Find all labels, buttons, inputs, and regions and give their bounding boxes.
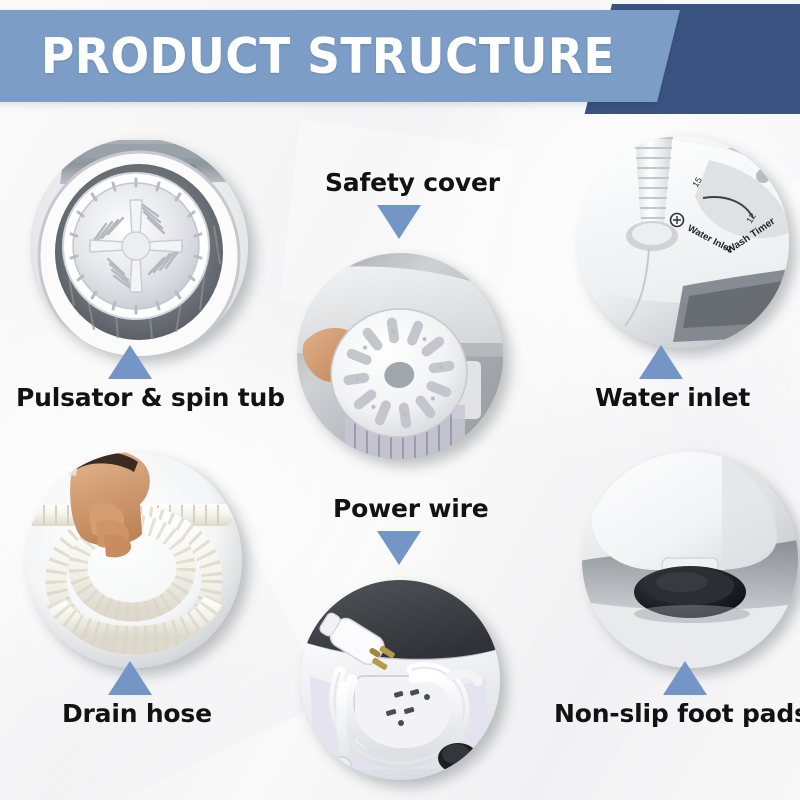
arrow-up-drain-hose [108,661,152,695]
arrow-up-pulsator-spin-tub [108,345,152,379]
caption-safety-cover: Safety cover [325,168,500,197]
arrow-down-safety-cover [377,205,421,239]
caption-water-inlet: Water inlet [595,383,750,412]
photo-safety-cover[interactable] [297,253,503,459]
caption-pulsator-spin-tub: Pulsator & spin tub [16,383,285,412]
photo-power-wire[interactable] [300,580,500,780]
photo-drain-hose[interactable] [26,452,242,668]
photo-pulsator-spin-tub[interactable] [30,138,248,356]
caption-drain-hose: Drain hose [62,699,212,728]
photo-water-inlet[interactable]: 15 12 0 Water Inlet Wash Timer [577,136,789,348]
arrow-up-water-inlet [639,345,683,379]
header-banner: PRODUCT STRUCTURE [0,0,800,118]
photo-non-slip-foot-pads[interactable] [582,452,798,668]
caption-non-slip-foot-pads: Non-slip foot pads [554,699,800,728]
arrow-down-power-wire [377,531,421,565]
page-title: PRODUCT STRUCTURE [0,10,614,102]
arrow-up-non-slip-foot-pads [663,661,707,695]
caption-power-wire: Power wire [333,494,489,523]
